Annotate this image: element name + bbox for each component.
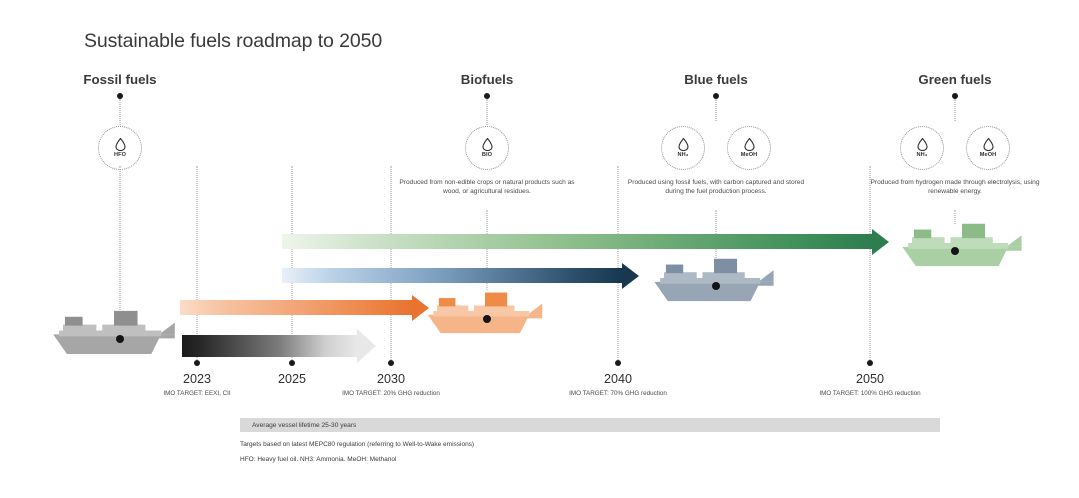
arrow-head bbox=[872, 229, 889, 255]
gridline-2040 bbox=[618, 166, 619, 360]
green-fuels-arrow bbox=[282, 234, 872, 249]
ship-green bbox=[898, 218, 1026, 268]
column-title-blue: Blue fuels bbox=[684, 72, 748, 87]
fuel-badge-blue-nh[interactable]: NH₃ bbox=[661, 126, 705, 170]
ship-waterline-dot bbox=[712, 282, 720, 290]
axis-tick-dot-2023 bbox=[194, 360, 200, 366]
fuel-badge-label: NH₃ bbox=[678, 152, 689, 158]
gridline-2023 bbox=[197, 166, 198, 360]
axis-year-2040: 2040 bbox=[604, 372, 632, 386]
gridline-2030 bbox=[391, 166, 392, 360]
ship-waterline-dot bbox=[116, 335, 124, 343]
fuel-badge-biofuels-bio[interactable]: BIO bbox=[465, 126, 509, 170]
axis-target-2030: IMO TARGET: 20% GHG reduction bbox=[342, 390, 440, 397]
ship-waterline-dot bbox=[951, 247, 959, 255]
gridline-2050 bbox=[870, 166, 871, 360]
arrow-head bbox=[622, 263, 639, 289]
ship-waterline-dot bbox=[483, 315, 491, 323]
fuel-badge-fossil-hfo[interactable]: HFO bbox=[98, 126, 142, 170]
arrow-body bbox=[182, 335, 357, 357]
axis-target-2050: IMO TARGET: 100% GHG reduction bbox=[819, 390, 920, 397]
ship-biofuel bbox=[424, 287, 546, 335]
infographic-canvas: Sustainable fuels roadmap to 2050 Fossil… bbox=[0, 0, 1079, 498]
column-lead-line-biofuels bbox=[487, 99, 488, 125]
column-description-green: Produced from hydrogen made through elec… bbox=[860, 178, 1050, 197]
column-title-green: Green fuels bbox=[918, 72, 991, 87]
vessel-lifetime-label: Average vessel lifetime 25-30 years bbox=[240, 422, 356, 429]
axis-year-2030: 2030 bbox=[377, 372, 405, 386]
column-lead-line-green bbox=[955, 99, 956, 121]
fuel-badge-label: MeOH bbox=[741, 152, 758, 158]
axis-year-2025: 2025 bbox=[278, 372, 306, 386]
axis-tick-dot-2025 bbox=[289, 360, 295, 366]
ship-fossil bbox=[48, 305, 180, 356]
vessel-lifetime-bar: Average vessel lifetime 25-30 years bbox=[240, 418, 940, 432]
biofuels-arrow bbox=[180, 300, 412, 315]
fuel-badge-label: NH₃ bbox=[917, 152, 928, 158]
arrow-body bbox=[180, 300, 412, 315]
arrow-head bbox=[357, 329, 376, 363]
fuel-badge-green-nh[interactable]: NH₃ bbox=[900, 126, 944, 170]
ship-blue bbox=[650, 253, 778, 303]
axis-year-2023: 2023 bbox=[183, 372, 211, 386]
axis-tick-dot-2030 bbox=[388, 360, 394, 366]
fuel-badge-green-meoh[interactable]: MeOH bbox=[966, 126, 1010, 170]
column-lead-line-fossil bbox=[120, 99, 121, 125]
arrow-body bbox=[282, 268, 622, 283]
footnote-targets: Targets based on latest MEPC80 regulatio… bbox=[240, 441, 474, 448]
column-title-biofuels: Biofuels bbox=[461, 72, 513, 87]
blue-fuels-arrow bbox=[282, 268, 622, 283]
gridline-2025 bbox=[292, 166, 293, 360]
fuel-badge-label: HFO bbox=[114, 152, 126, 158]
fuel-badge-label: BIO bbox=[482, 152, 492, 158]
axis-target-2023: IMO TARGET: EEXI, CII bbox=[163, 390, 230, 397]
column-description-biofuels: Produced from non-edible crops or natura… bbox=[392, 178, 582, 197]
axis-target-2040: IMO TARGET: 70% GHG reduction bbox=[569, 390, 667, 397]
fuel-badge-label: MeOH bbox=[980, 152, 997, 158]
axis-tick-dot-2050 bbox=[867, 360, 873, 366]
fossil-fuels-arrow bbox=[182, 335, 357, 357]
column-lead-line-blue bbox=[716, 99, 717, 121]
column-title-fossil: Fossil fuels bbox=[83, 72, 156, 87]
column-description-blue: Produced using fossil fuels, with carbon… bbox=[621, 178, 811, 197]
footnote-abbreviations: HFO: Heavy fuel oil. NH3: Ammonia. MeOH:… bbox=[240, 456, 396, 463]
axis-tick-dot-2040 bbox=[615, 360, 621, 366]
gridline-fossil bbox=[120, 166, 121, 318]
page-title: Sustainable fuels roadmap to 2050 bbox=[84, 30, 382, 53]
arrow-body bbox=[282, 234, 872, 249]
fuel-badge-blue-meoh[interactable]: MeOH bbox=[727, 126, 771, 170]
axis-year-2050: 2050 bbox=[856, 372, 884, 386]
